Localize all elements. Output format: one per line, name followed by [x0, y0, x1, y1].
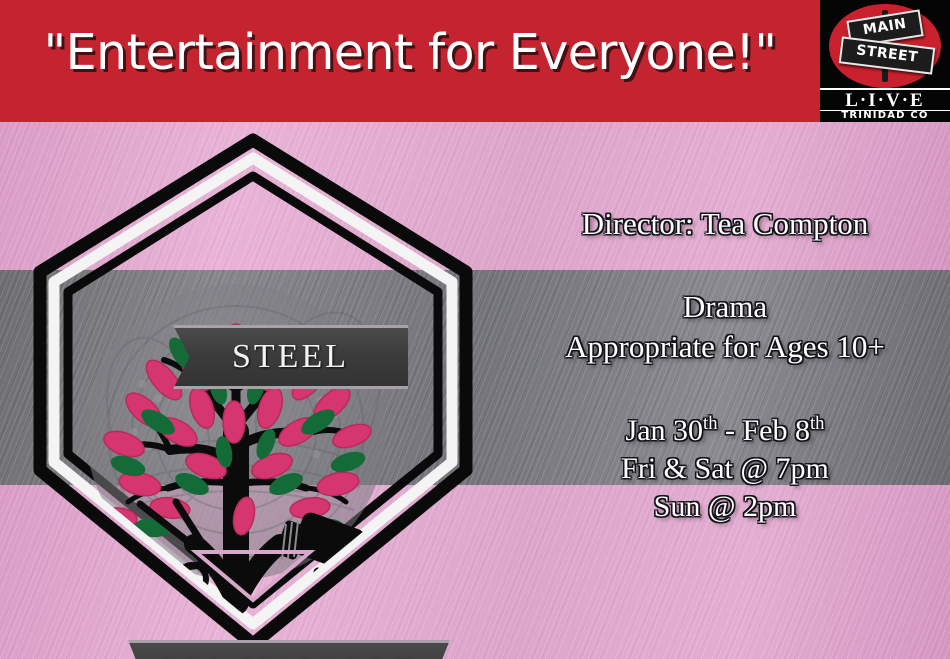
tagline-text: "Entertainment for Everyone!"	[0, 24, 820, 81]
director-line: Director: Tea Compton	[500, 206, 950, 242]
steel-magnolias-emblem: STEEL MAGNOLIAS	[18, 132, 488, 652]
showtime-weekend-line: Fri & Sat @ 7pm	[500, 452, 950, 486]
show-details: Director: Tea Compton Drama Appropriate …	[500, 130, 950, 524]
age-rating-line: Appropriate for Ages 10+	[500, 329, 950, 365]
showtime-sunday-line: Sun @ 2pm	[500, 490, 950, 524]
date-separator: -	[718, 414, 743, 447]
logo-city-text: TRINIDAD CO	[820, 110, 950, 121]
date-start-ordinal: th	[703, 413, 717, 434]
date-end-ordinal: th	[810, 413, 824, 434]
emblem-title-top-ribbon: STEEL	[173, 325, 408, 389]
genre-line: Drama	[500, 289, 950, 325]
date-end-month: Feb	[743, 414, 788, 447]
show-poster: "Entertainment for Everyone!" MAIN STREE…	[0, 0, 950, 659]
emblem-title-top-label: STEEL	[232, 338, 349, 376]
main-street-live-logo: MAIN STREET L·I·V·E TRINIDAD CO	[820, 0, 950, 122]
logo-live-text: L·I·V·E	[820, 88, 950, 111]
shield-artwork	[18, 132, 488, 652]
date-start-day: 30	[673, 414, 703, 447]
date-start-month: Jan	[626, 414, 666, 447]
run-dates-line: Jan 30th - Feb 8th	[500, 413, 950, 448]
header-banner: "Entertainment for Everyone!"	[0, 0, 950, 122]
emblem-title-bottom-label: MAGNOLIAS	[163, 650, 415, 659]
date-end-day: 8	[795, 414, 810, 447]
emblem-title-bottom-ribbon: MAGNOLIAS	[128, 640, 450, 659]
